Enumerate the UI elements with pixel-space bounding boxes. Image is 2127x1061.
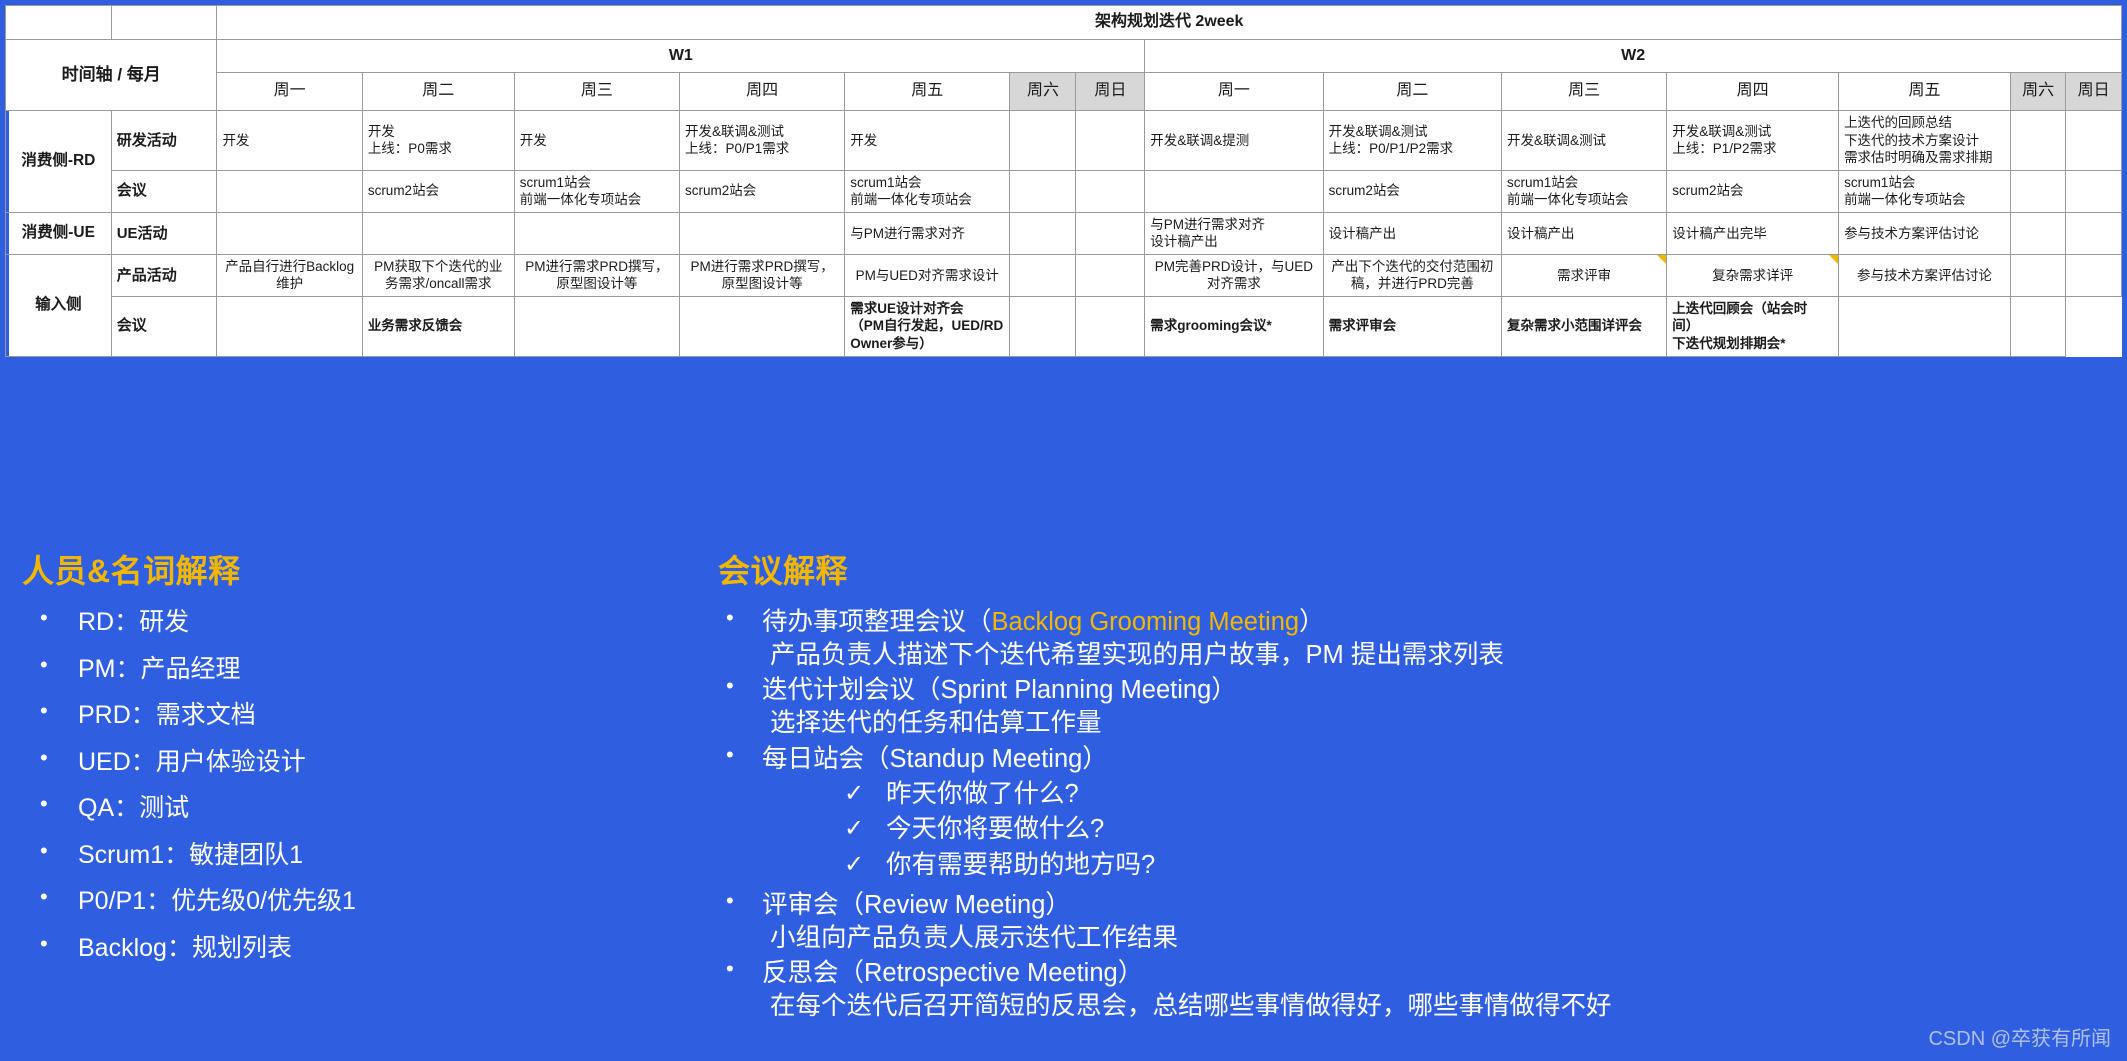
legend-section: 人员&名词解释 RD：研发PM：产品经理PRD：需求文档UED：用户体验设计QA… (0, 528, 2127, 1061)
cell-0-1-11[interactable]: scrum1站会 前端一体化专项站会 (1839, 170, 2011, 212)
term-item-5: Scrum1：敏捷团队1 (22, 839, 712, 872)
cell-2-1-7[interactable]: 需求grooming会议* (1145, 296, 1323, 356)
cell-2-1-12[interactable] (2010, 296, 2066, 356)
comment-marker-icon (1829, 255, 1838, 264)
corner-cell-b (111, 6, 217, 40)
csdn-watermark: CSDN @卒获有所闻 (1928, 1022, 2111, 1051)
term-item-3: UED：用户体验设计 (22, 746, 712, 779)
meeting-item-head-1: 迭代计划会议（Sprint Planning Meeting） (762, 674, 2118, 707)
cell-1-0-0[interactable] (217, 212, 362, 254)
term-item-4: QA：测试 (22, 792, 712, 825)
day-header-5: 周六 (1010, 73, 1076, 111)
standup-question-list: 昨天你做了什么?今天你将要做什么?你有需要帮助的地方吗? (762, 778, 2118, 883)
cell-2-1-4[interactable]: 需求UE设计对齐会 （PM自行发起，UED/RD Owner参与） (845, 296, 1010, 356)
table-row: 消费侧-UEUE活动与PM进行需求对齐与PM进行需求对齐 设计稿产出设计稿产出设… (6, 212, 2122, 254)
cell-0-0-12[interactable] (2010, 111, 2066, 171)
cell-0-0-13[interactable] (2066, 111, 2122, 171)
cell-1-0-11[interactable]: 参与技术方案评估讨论 (1839, 212, 2011, 254)
cell-1-0-3[interactable] (680, 212, 845, 254)
cell-1-0-13[interactable] (2066, 212, 2122, 254)
day-header-4: 周五 (845, 73, 1010, 111)
cell-2-1-3[interactable] (680, 296, 845, 356)
cell-2-0-6[interactable] (1076, 254, 1145, 296)
term-item-2: PRD：需求文档 (22, 699, 712, 732)
cell-0-1-4[interactable]: scrum1站会 前端一体化专项站会 (845, 170, 1010, 212)
cell-0-1-0[interactable] (217, 170, 362, 212)
row-label-0-1: 会议 (111, 170, 217, 212)
meeting-head-tail: ） (1299, 608, 1325, 636)
cell-1-0-2[interactable] (514, 212, 679, 254)
standup-question-0: 昨天你做了什么? (840, 778, 2118, 812)
day-header-10: 周四 (1667, 73, 1839, 111)
legend-left-column: 人员&名词解释 RD：研发PM：产品经理PRD：需求文档UED：用户体验设计QA… (22, 528, 712, 978)
standup-question-1: 今天你将要做什么? (840, 813, 2118, 847)
meeting-item-4: 反思会（Retrospective Meeting）在每个迭代后召开简短的反思会… (718, 957, 2118, 1023)
week-band-w2: W2 (1145, 40, 2122, 73)
legend-right-column: 会议解释 待办事项整理会议（Backlog Grooming Meeting）产… (718, 528, 2118, 1025)
cell-1-0-5[interactable] (1010, 212, 1076, 254)
cell-1-0-7[interactable]: 与PM进行需求对齐 设计稿产出 (1145, 212, 1323, 254)
table-row: 消费侧-RD研发活动开发开发 上线：P0需求开发开发&联调&测试 上线：P0/P… (6, 111, 2122, 171)
cell-0-0-3[interactable]: 开发&联调&测试 上线：P0/P1需求 (680, 111, 845, 171)
meeting-item-1: 迭代计划会议（Sprint Planning Meeting）选择迭代的任务和估… (718, 674, 2118, 740)
cell-0-1-13[interactable] (2066, 170, 2122, 212)
cell-1-0-8[interactable]: 设计稿产出 (1323, 212, 1501, 254)
cell-2-1-11[interactable] (1839, 296, 2011, 356)
cell-1-0-1[interactable] (362, 212, 514, 254)
cell-2-0-3[interactable]: PM进行需求PRD撰写，原型图设计等 (680, 254, 845, 296)
cell-0-0-10[interactable]: 开发&联调&测试 上线：P1/P2需求 (1667, 111, 1839, 171)
cell-0-0-7[interactable]: 开发&联调&提测 (1145, 111, 1323, 171)
sheet-title-row: 架构规划迭代 2week (6, 6, 2122, 40)
cell-1-0-6[interactable] (1076, 212, 1145, 254)
cell-0-0-6[interactable] (1076, 111, 1145, 171)
day-header-2: 周三 (514, 73, 679, 111)
cell-2-1-8[interactable]: 需求评审会 (1323, 296, 1501, 356)
cell-0-1-7[interactable] (1145, 170, 1323, 212)
meeting-item-2: 每日站会（Standup Meeting）昨天你做了什么?今天你将要做什么?你有… (718, 743, 2118, 883)
group-header-0: 消费侧-RD (6, 111, 112, 213)
table-row: 输入侧产品活动产品自行进行Backlog维护PM获取下个迭代的业务需求/onca… (6, 254, 2122, 296)
corner-cell-a (6, 6, 112, 40)
cell-1-0-4[interactable]: 与PM进行需求对齐 (845, 212, 1010, 254)
meeting-head-en: Backlog Grooming Meeting (992, 608, 1300, 636)
cell-0-0-9[interactable]: 开发&联调&测试 (1502, 111, 1667, 171)
day-header-3: 周四 (680, 73, 845, 111)
meeting-item-0: 待办事项整理会议（Backlog Grooming Meeting）产品负责人描… (718, 606, 2118, 672)
cell-2-0-1[interactable]: PM获取下个迭代的业务需求/oncall需求 (362, 254, 514, 296)
meetings-list: 待办事项整理会议（Backlog Grooming Meeting）产品负责人描… (718, 606, 2118, 1023)
cell-0-0-11[interactable]: 上迭代的回顾总结 下迭代的技术方案设计 需求估时明确及需求排期 (1839, 111, 2011, 171)
meeting-item-head-4: 反思会（Retrospective Meeting） (762, 957, 2118, 990)
timeline-axis-label: 时间轴 / 每月 (6, 40, 217, 111)
term-item-0: RD：研发 (22, 606, 712, 639)
cell-0-1-1[interactable]: scrum2站会 (362, 170, 514, 212)
cell-0-0-8[interactable]: 开发&联调&测试 上线：P0/P1/P2需求 (1323, 111, 1501, 171)
cell-2-0-10[interactable]: 复杂需求详评 (1667, 254, 1839, 296)
meeting-head-cn: 待办事项整理会议（ (762, 608, 992, 636)
cell-0-1-5[interactable] (1010, 170, 1076, 212)
day-header-7: 周一 (1145, 73, 1323, 111)
cell-0-1-2[interactable]: scrum1站会 前端一体化专项站会 (514, 170, 679, 212)
week-band-w1: W1 (217, 40, 1145, 73)
cell-0-1-9[interactable]: scrum1站会 前端一体化专项站会 (1502, 170, 1667, 212)
term-item-6: P0/P1：优先级0/优先级1 (22, 885, 712, 918)
cell-2-1-0[interactable] (217, 296, 362, 356)
cell-2-0-7[interactable]: PM完善PRD设计，与UED对齐需求 (1145, 254, 1323, 296)
cell-1-0-10[interactable]: 设计稿产出完毕 (1667, 212, 1839, 254)
cell-2-0-11[interactable]: 参与技术方案评估讨论 (1839, 254, 2011, 296)
cell-0-1-8[interactable]: scrum2站会 (1323, 170, 1501, 212)
cell-0-1-3[interactable]: scrum2站会 (680, 170, 845, 212)
week-band-row: 时间轴 / 每月W1W2 (6, 40, 2122, 73)
cell-2-0-0[interactable]: 产品自行进行Backlog维护 (217, 254, 362, 296)
cell-2-1-5[interactable] (1010, 296, 1076, 356)
cell-0-0-1[interactable]: 开发 上线：P0需求 (362, 111, 514, 171)
term-item-1: PM：产品经理 (22, 653, 712, 686)
cell-2-0-12[interactable] (2010, 254, 2066, 296)
day-header-8: 周二 (1323, 73, 1501, 111)
schedule-sheet: 架构规划迭代 2week时间轴 / 每月W1W2周一周二周三周四周五周六周日周一… (0, 0, 2127, 528)
day-header-13: 周日 (2066, 73, 2122, 111)
cell-2-1-6[interactable] (1076, 296, 1145, 356)
meeting-item-head-3: 评审会（Review Meeting） (762, 889, 2118, 922)
cell-0-0-0[interactable]: 开发 (217, 111, 362, 171)
day-header-0: 周一 (217, 73, 362, 111)
meeting-desc-0: 产品负责人描述下个迭代希望实现的用户故事，PM 提出需求列表 (762, 639, 2118, 672)
row-label-2-1: 会议 (111, 296, 217, 356)
meeting-desc-4: 在每个迭代后召开简短的反思会，总结哪些事情做得好，哪些事情做得不好 (762, 990, 2118, 1023)
table-row: 会议scrum2站会scrum1站会 前端一体化专项站会scrum2站会scru… (6, 170, 2122, 212)
meeting-item-3: 评审会（Review Meeting）小组向产品负责人展示迭代工作结果 (718, 889, 2118, 955)
meeting-desc-1: 选择迭代的任务和估算工作量 (762, 707, 2118, 740)
group-header-2: 输入侧 (6, 254, 112, 356)
cell-1-0-9[interactable]: 设计稿产出 (1502, 212, 1667, 254)
cell-2-0-13[interactable] (2066, 254, 2122, 296)
meeting-item-head-0: 待办事项整理会议（Backlog Grooming Meeting） (762, 606, 2118, 639)
legend-right-title: 会议解释 (718, 546, 2118, 592)
cell-1-0-12[interactable] (2010, 212, 2066, 254)
row-label-2-0: 产品活动 (111, 254, 217, 296)
cell-0-1-10[interactable]: scrum2站会 (1667, 170, 1839, 212)
cell-2-1-2[interactable] (514, 296, 679, 356)
day-header-1: 周二 (362, 73, 514, 111)
row-label-1-0: UE活动 (111, 212, 217, 254)
cell-2-0-4[interactable]: PM与UED对齐需求设计 (845, 254, 1010, 296)
cell-2-0-5[interactable] (1010, 254, 1076, 296)
row-label-0-0: 研发活动 (111, 111, 217, 171)
iteration-schedule-table: 架构规划迭代 2week时间轴 / 每月W1W2周一周二周三周四周五周六周日周一… (5, 5, 2122, 357)
cell-0-1-12[interactable] (2010, 170, 2066, 212)
cell-2-1-1[interactable]: 业务需求反馈会 (362, 296, 514, 356)
day-header-row: 周一周二周三周四周五周六周日周一周二周三周四周五周六周日 (6, 73, 2122, 111)
term-item-7: Backlog：规划列表 (22, 932, 712, 965)
day-header-9: 周三 (1502, 73, 1667, 111)
cell-2-0-9[interactable]: 需求评审 (1502, 254, 1667, 296)
day-header-12: 周六 (2010, 73, 2066, 111)
standup-question-2: 你有需要帮助的地方吗? (840, 849, 2118, 883)
meeting-desc-3: 小组向产品负责人展示迭代工作结果 (762, 922, 2118, 955)
cell-2-1-10[interactable]: 上迭代回顾会（站会时间） 下迭代规划排期会* (1667, 296, 1839, 356)
meeting-item-head-2: 每日站会（Standup Meeting） (762, 743, 2118, 776)
sheet-title: 架构规划迭代 2week (217, 6, 2122, 40)
cell-0-1-6[interactable] (1076, 170, 1145, 212)
cell-2-0-8[interactable]: 产出下个迭代的交付范围初稿，并进行PRD完善 (1323, 254, 1501, 296)
table-row: 会议业务需求反馈会需求UE设计对齐会 （PM自行发起，UED/RD Owner参… (6, 296, 2122, 356)
group-header-1: 消费侧-UE (6, 212, 112, 254)
day-header-11: 周五 (1839, 73, 2011, 111)
cell-0-0-4[interactable]: 开发 (845, 111, 1010, 171)
cell-0-0-5[interactable] (1010, 111, 1076, 171)
comment-marker-icon (1657, 255, 1666, 264)
day-header-6: 周日 (1076, 73, 1145, 111)
cell-2-0-2[interactable]: PM进行需求PRD撰写，原型图设计等 (514, 254, 679, 296)
terms-list: RD：研发PM：产品经理PRD：需求文档UED：用户体验设计QA：测试Scrum… (22, 606, 712, 964)
legend-left-title: 人员&名词解释 (22, 546, 712, 592)
cell-2-1-9[interactable]: 复杂需求小范围详评会 (1502, 296, 1667, 356)
cell-0-0-2[interactable]: 开发 (514, 111, 679, 171)
